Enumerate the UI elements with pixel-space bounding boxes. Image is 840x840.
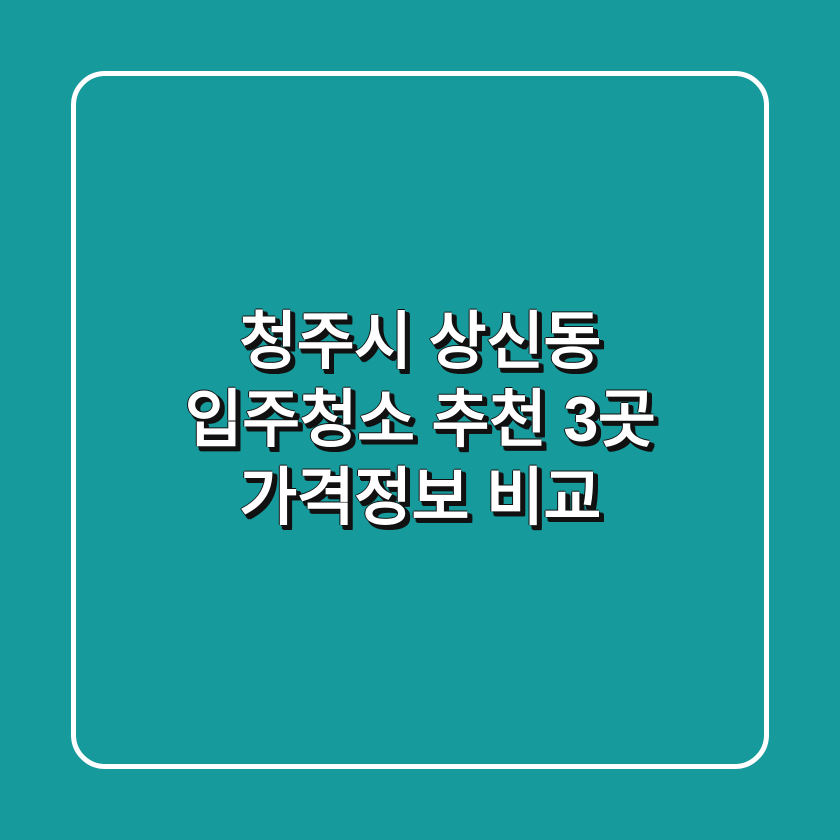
title-line-2: 입주청소 추천 3곳 [0, 381, 840, 459]
title-block: 청주시 상신동 입주청소 추천 3곳 가격정보 비교 [0, 0, 840, 840]
title-line-3: 가격정보 비교 [0, 459, 840, 537]
title-line-1: 청주시 상신동 [0, 303, 840, 381]
thumbnail-card: 청주시 상신동 입주청소 추천 3곳 가격정보 비교 [0, 0, 840, 840]
